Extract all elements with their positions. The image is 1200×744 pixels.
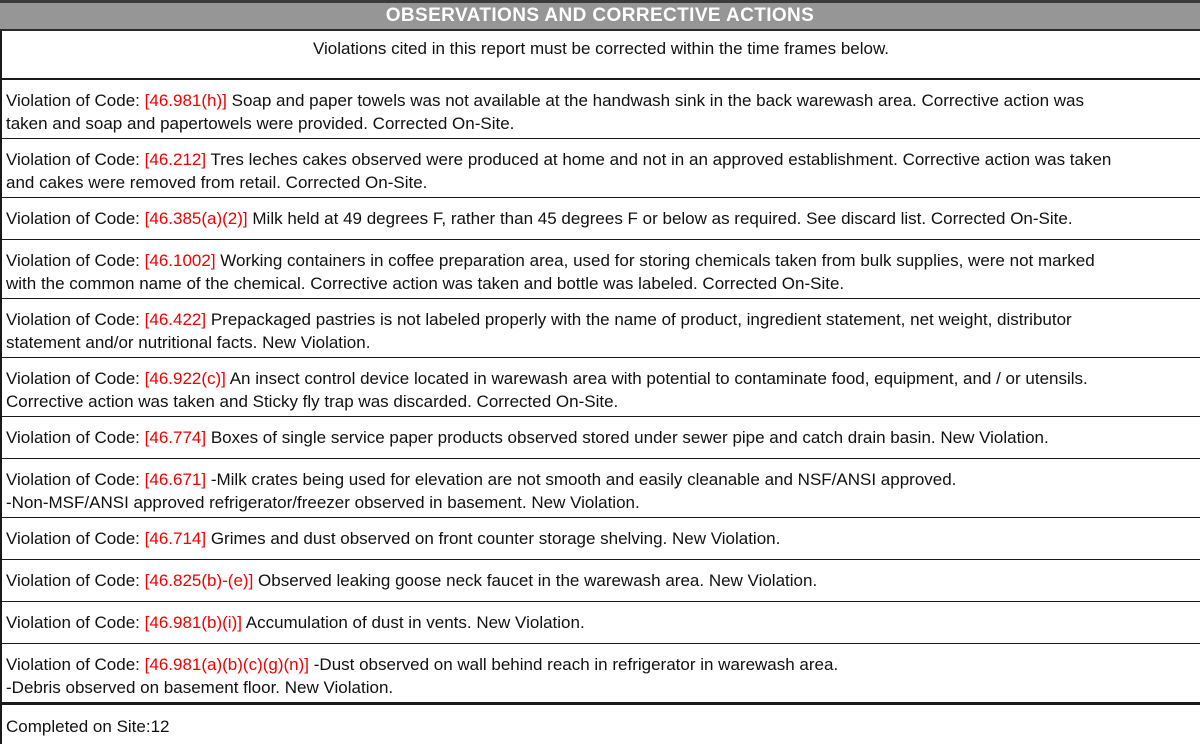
violation-row: Violation of Code: [46.981(b)(i)] Accumu…: [0, 602, 1200, 644]
intro-row: Violations cited in this report must be …: [0, 31, 1200, 80]
violation-line-secondary: Corrective action was taken and Sticky f…: [6, 390, 1200, 413]
violation-code: [46.714]: [145, 529, 206, 548]
violation-row: Violation of Code: [46.981(a)(b)(c)(g)(n…: [0, 644, 1200, 703]
violation-line-primary: Violation of Code: [46.981(a)(b)(c)(g)(n…: [6, 653, 1200, 676]
violation-prefix-label: Violation of Code:: [6, 91, 140, 110]
violation-description: Prepackaged pastries is not labeled prop…: [211, 310, 1072, 329]
violation-prefix-label: Violation of Code:: [6, 470, 140, 489]
violation-row: Violation of Code: [46.385(a)(2)] Milk h…: [0, 198, 1200, 240]
completed-on-site-text: Completed on Site:12: [6, 717, 170, 736]
violation-description: Tres leches cakes observed were produced…: [211, 150, 1112, 169]
violation-description: Grimes and dust observed on front counte…: [211, 529, 781, 548]
report-header-band: OBSERVATIONS AND CORRECTIVE ACTIONS: [0, 0, 1200, 31]
violation-code: [46.422]: [145, 310, 206, 329]
violation-line-primary: Violation of Code: [46.825(b)-(e)] Obser…: [6, 569, 1200, 592]
violation-row: Violation of Code: [46.671] -Milk crates…: [0, 459, 1200, 518]
page-title: OBSERVATIONS AND CORRECTIVE ACTIONS: [386, 5, 815, 27]
violation-prefix-label: Violation of Code:: [6, 251, 140, 270]
violation-row: Violation of Code: [46.212] Tres leches …: [0, 139, 1200, 198]
violation-prefix-label: Violation of Code:: [6, 655, 140, 674]
violation-line-primary: Violation of Code: [46.774] Boxes of sin…: [6, 426, 1200, 449]
violation-prefix-label: Violation of Code:: [6, 209, 140, 228]
violation-prefix-label: Violation of Code:: [6, 428, 140, 447]
violation-code: [46.922(c)]: [145, 369, 226, 388]
violation-line-primary: Violation of Code: [46.981(b)(i)] Accumu…: [6, 611, 1200, 634]
violation-description: Observed leaking goose neck faucet in th…: [258, 571, 817, 590]
violation-row: Violation of Code: [46.922(c)] An insect…: [0, 358, 1200, 417]
violation-line-primary: Violation of Code: [46.922(c)] An insect…: [6, 367, 1200, 390]
violation-description: An insect control device located in ware…: [230, 369, 1088, 388]
violation-line-primary: Violation of Code: [46.981(h)] Soap and …: [6, 89, 1200, 112]
violation-line-primary: Violation of Code: [46.1002] Working con…: [6, 249, 1200, 272]
violation-code: [46.774]: [145, 428, 206, 447]
violation-line-primary: Violation of Code: [46.422] Prepackaged …: [6, 308, 1200, 331]
observations-report-table: OBSERVATIONS AND CORRECTIVE ACTIONS Viol…: [0, 0, 1200, 744]
violation-line-secondary: statement and/or nutritional facts. New …: [6, 331, 1200, 354]
violation-prefix-label: Violation of Code:: [6, 571, 140, 590]
completed-on-site-row: Completed on Site:12: [0, 703, 1200, 744]
violation-row: Violation of Code: [46.825(b)-(e)] Obser…: [0, 560, 1200, 602]
violation-description: Milk held at 49 degrees F, rather than 4…: [252, 209, 1072, 228]
violation-line-primary: Violation of Code: [46.671] -Milk crates…: [6, 468, 1200, 491]
violation-description: Boxes of single service paper products o…: [211, 428, 1049, 447]
violation-line-secondary: -Non-MSF/ANSI approved refrigerator/free…: [6, 491, 1200, 514]
violation-row: Violation of Code: [46.1002] Working con…: [0, 240, 1200, 299]
violation-list: Violation of Code: [46.981(h)] Soap and …: [0, 80, 1200, 703]
violation-code: [46.981(a)(b)(c)(g)(n)]: [145, 655, 309, 674]
violation-prefix-label: Violation of Code:: [6, 369, 140, 388]
violation-line-primary: Violation of Code: [46.212] Tres leches …: [6, 148, 1200, 171]
violation-row: Violation of Code: [46.422] Prepackaged …: [0, 299, 1200, 358]
intro-text: Violations cited in this report must be …: [313, 39, 889, 59]
violation-code: [46.1002]: [145, 251, 216, 270]
violation-code: [46.671]: [145, 470, 206, 489]
violation-prefix-label: Violation of Code:: [6, 310, 140, 329]
violation-code: [46.212]: [145, 150, 206, 169]
violation-row: Violation of Code: [46.774] Boxes of sin…: [0, 417, 1200, 459]
violation-row: Violation of Code: [46.981(h)] Soap and …: [0, 80, 1200, 139]
violation-description: Soap and paper towels was not available …: [232, 91, 1084, 110]
violation-line-secondary: and cakes were removed from retail. Corr…: [6, 171, 1200, 194]
violation-code: [46.385(a)(2)]: [145, 209, 248, 228]
violation-line-secondary: with the common name of the chemical. Co…: [6, 272, 1200, 295]
violation-line-primary: Violation of Code: [46.714] Grimes and d…: [6, 527, 1200, 550]
violation-code: [46.981(h)]: [145, 91, 227, 110]
violation-code: [46.981(b)(i)]: [145, 613, 242, 632]
violation-description: Accumulation of dust in vents. New Viola…: [246, 613, 585, 632]
violation-line-primary: Violation of Code: [46.385(a)(2)] Milk h…: [6, 207, 1200, 230]
violation-prefix-label: Violation of Code:: [6, 150, 140, 169]
violation-row: Violation of Code: [46.714] Grimes and d…: [0, 518, 1200, 560]
violation-prefix-label: Violation of Code:: [6, 529, 140, 548]
violation-description: -Milk crates being used for elevation ar…: [211, 470, 957, 489]
violation-line-secondary: taken and soap and papertowels were prov…: [6, 112, 1200, 135]
violation-code: [46.825(b)-(e)]: [145, 571, 254, 590]
violation-description: -Dust observed on wall behind reach in r…: [314, 655, 838, 674]
violation-prefix-label: Violation of Code:: [6, 613, 140, 632]
violation-description: Working containers in coffee preparation…: [220, 251, 1094, 270]
violation-line-secondary: -Debris observed on basement floor. New …: [6, 676, 1200, 699]
